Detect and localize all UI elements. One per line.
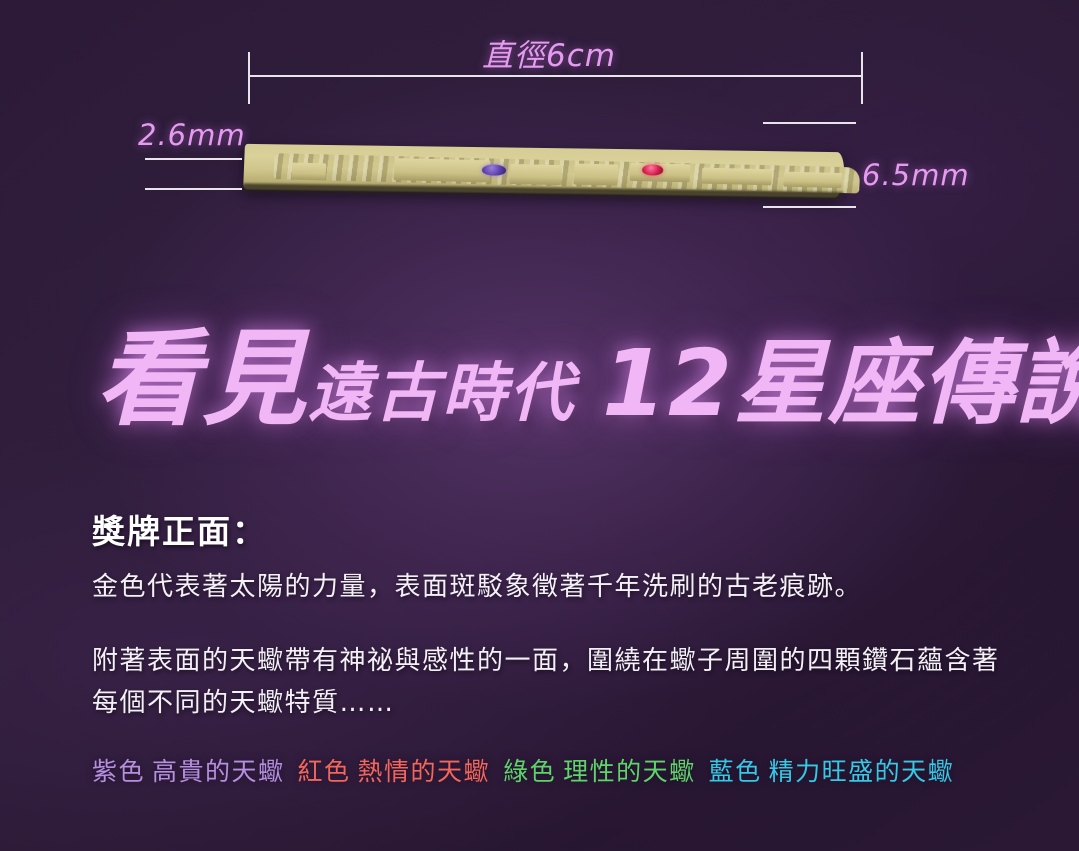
headline-mid: 遠古時代: [308, 357, 576, 431]
thin-edge-label: 2.6mm: [138, 118, 246, 152]
trait-description: 精力旺盛的天蠍: [769, 757, 955, 786]
page-title: 獎牌正面：: [92, 505, 267, 553]
diameter-line: [248, 75, 863, 77]
medal-relief-surface: [273, 153, 860, 193]
thin-edge-rule-top: [145, 158, 242, 160]
relief-bump: [783, 172, 842, 188]
trait-color-name: 紫色: [92, 757, 145, 786]
trait-item-green: 綠色理性的天蠍: [503, 752, 696, 788]
thick-edge-label: 6.5mm: [862, 158, 970, 192]
trait-item-purple: 紫色高貴的天蠍: [92, 752, 285, 788]
relief-bump: [291, 163, 326, 181]
gem-purple: [482, 164, 507, 176]
trait-description: 熱情的天蠍: [358, 757, 491, 786]
headline-lead: 看見: [96, 318, 308, 440]
trait-description: 高貴的天蠍: [152, 757, 285, 786]
trait-color-name: 紅色: [298, 757, 351, 786]
thick-edge-rule-bottom: [763, 206, 856, 208]
paragraph-scorpio-detail: 附著表面的天蠍帶有神祕與感性的一面，圍繞在蠍子周圍的四顆鑽石蘊含著每個不同的天蠍…: [92, 640, 1002, 724]
medal-body: [243, 144, 845, 198]
relief-bump: [393, 158, 490, 182]
relief-bump: [701, 168, 772, 186]
trait-item-red: 紅色熱情的天蠍: [298, 752, 491, 788]
product-poster: 直徑6cm 2.6mm 6.5mm 看見遠古時代12星座傳說 獎牌正面： 金色代…: [0, 0, 1079, 851]
relief-bump: [509, 164, 562, 185]
headline: 看見遠古時代12星座傳說: [96, 325, 996, 434]
relief-bump: [573, 163, 618, 185]
thin-edge-rule-bottom: [145, 188, 242, 190]
trait-color-name: 綠色: [503, 757, 556, 786]
diameter-tick-right: [861, 52, 863, 104]
trait-legend: 紫色高貴的天蠍紅色熱情的天蠍綠色理性的天蠍藍色精力旺盛的天蠍: [92, 752, 1032, 788]
trait-description: 理性的天蠍: [563, 757, 696, 786]
thick-edge-rule-top: [763, 122, 856, 124]
paragraph-gold-meaning: 金色代表著太陽的力量，表面斑駁象徵著千年洗刷的古老痕跡。: [92, 566, 1002, 608]
diameter-tick-left: [248, 52, 250, 104]
trait-color-name: 藍色: [709, 757, 762, 786]
headline-tail: 12星座傳說: [602, 330, 1079, 437]
gem-red: [642, 164, 664, 176]
trait-item-blue: 藍色精力旺盛的天蠍: [709, 752, 955, 788]
diameter-label: 直徑6cm: [482, 30, 616, 75]
